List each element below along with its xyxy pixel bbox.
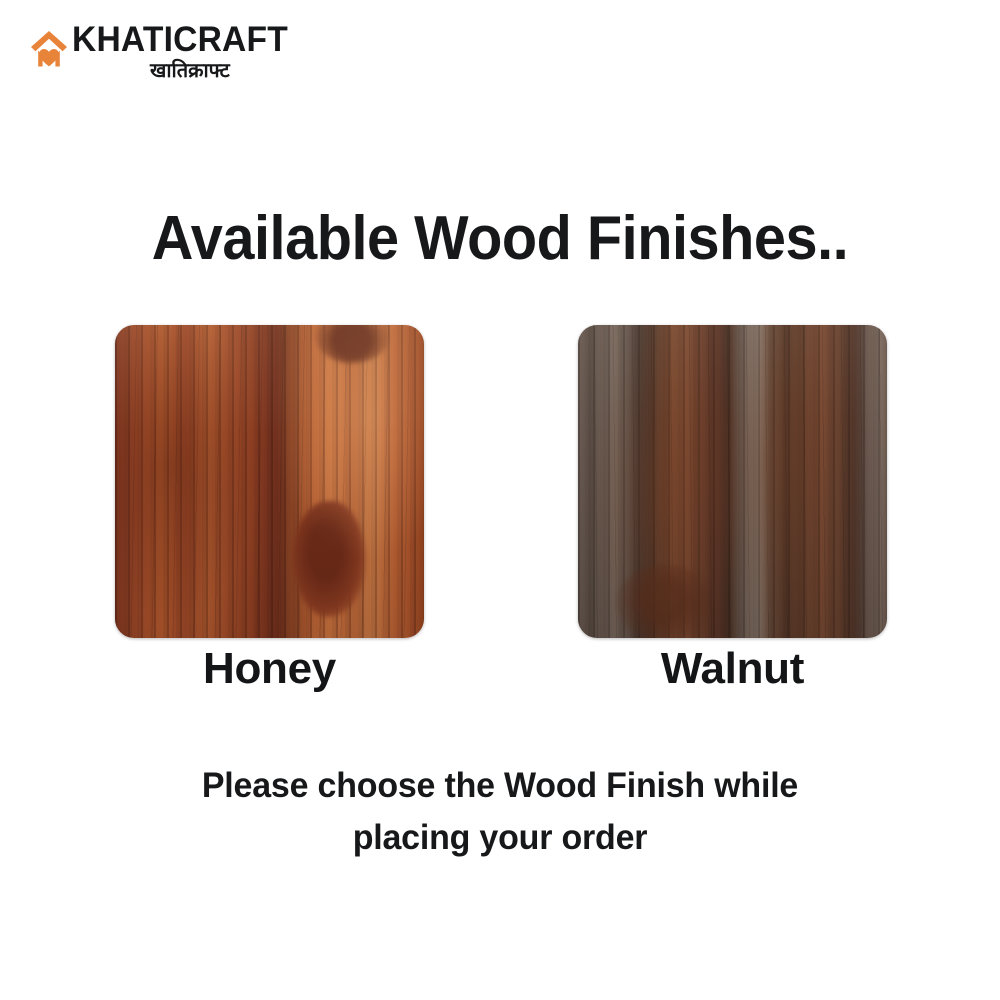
page-title: Available Wood Finishes..: [35, 206, 965, 271]
honey-grain-shading: [115, 325, 424, 638]
walnut-grain-shading: [578, 325, 887, 638]
honey-wood-swatch[interactable]: [115, 325, 424, 638]
instruction-text: Please choose the Wood Finish while plac…: [161, 760, 840, 864]
finish-label-walnut: Walnut: [578, 644, 887, 695]
finish-option-walnut[interactable]: Walnut: [578, 325, 887, 695]
brand-wordmark: KHATICRAFT खातिक्राफ्ट: [72, 22, 297, 80]
brand-name: KHATICRAFT: [72, 22, 288, 58]
brand-logo: KHATICRAFT खातिक्राफ्ट: [28, 22, 297, 80]
finish-label-honey: Honey: [115, 644, 424, 695]
house-heart-icon: [28, 25, 70, 71]
wood-finish-options: Honey Walnut: [0, 325, 1000, 695]
brand-name-hindi: खातिक्राफ्ट: [150, 60, 230, 80]
walnut-wood-swatch[interactable]: [578, 325, 887, 638]
finish-option-honey[interactable]: Honey: [115, 325, 424, 695]
